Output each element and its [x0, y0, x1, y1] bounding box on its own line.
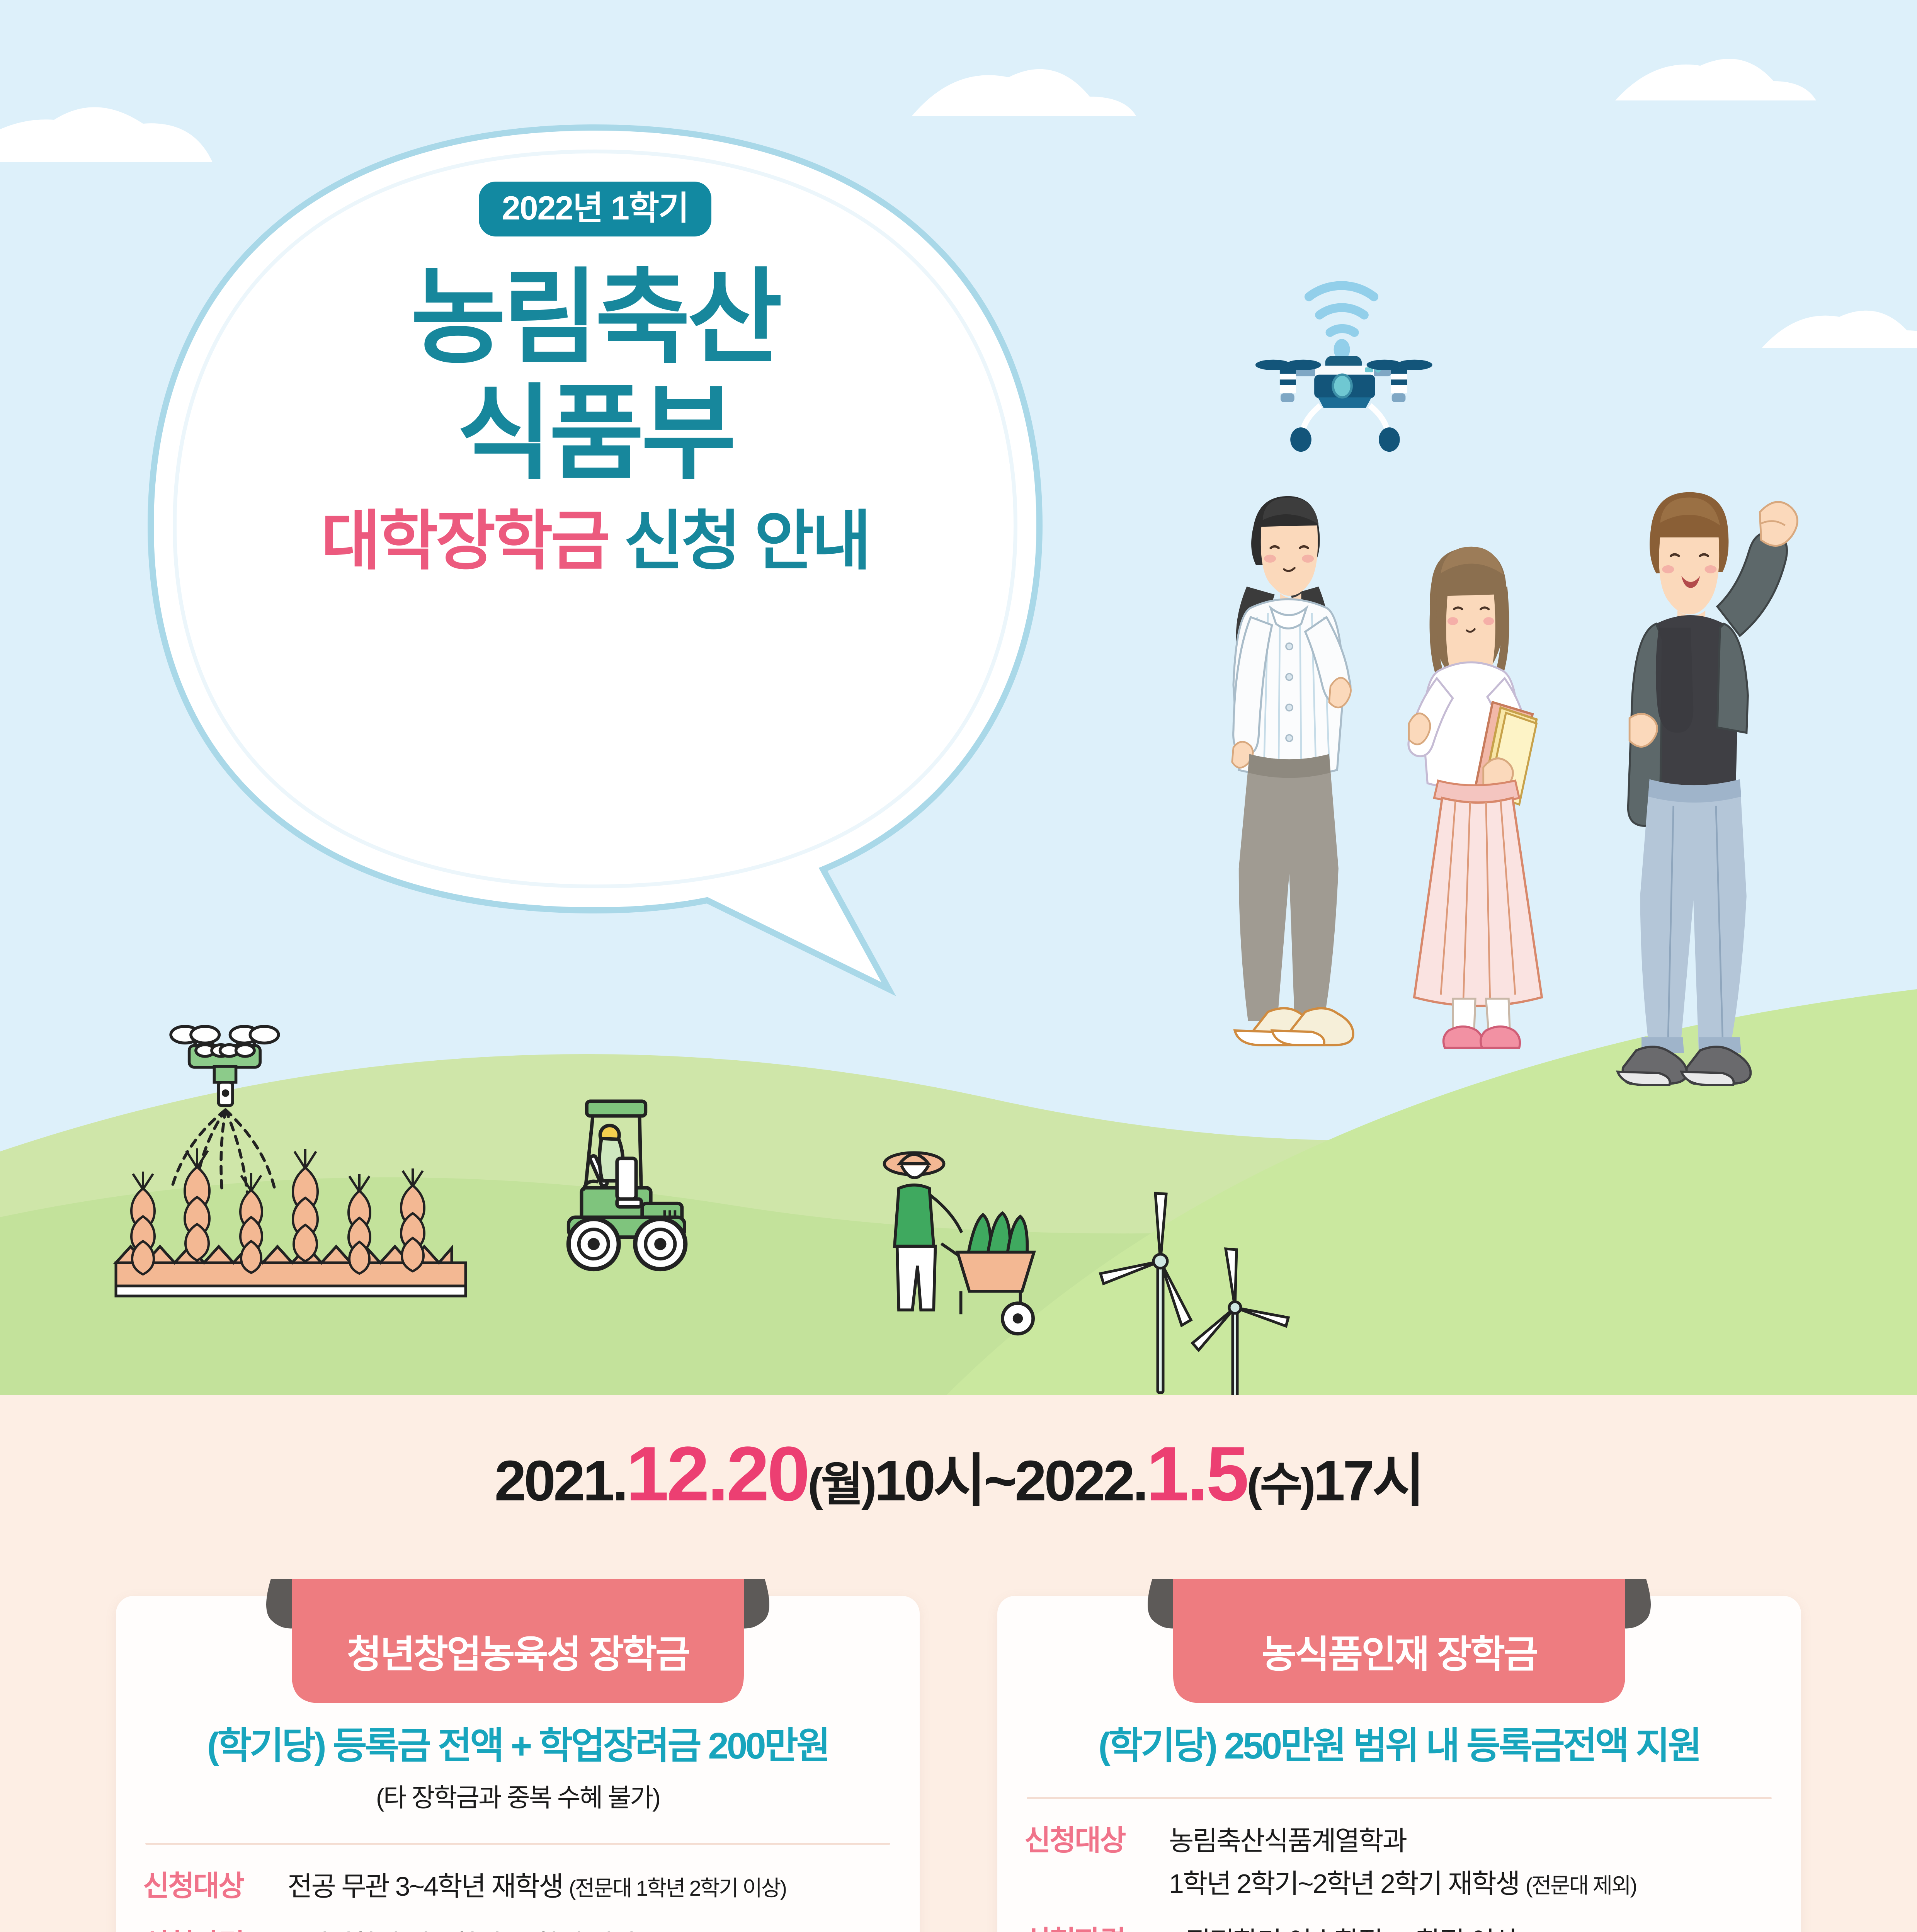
ribbon-banner-left: 청년창업농육성 장학금	[234, 1579, 802, 1733]
row-body: 직전학기 이수학점 12학점 이상 성적 80점 이상인 자	[1169, 1923, 1774, 1932]
bullet-item: 직전학기 이수학점 12학점 이상	[1169, 1923, 1774, 1932]
period-end-year: 2022.	[1015, 1449, 1146, 1513]
row-body: 농림축산식품계열학과 1학년 2학기~2학년 2학기 재학생 (전문대 제외)	[1169, 1822, 1774, 1902]
period-start-year: 2021.	[495, 1449, 626, 1513]
period-end-date: 1.5	[1146, 1431, 1247, 1517]
row-label: 신청자격	[1024, 1923, 1152, 1932]
card-divider-left	[145, 1843, 890, 1845]
page-title: 농림축산 식품부	[216, 260, 974, 492]
row-text-small: (전문대 1학년 2학기 이상)	[569, 1876, 786, 1900]
bullet-item: 직전학기 이수학점 12학점 이상	[287, 1926, 893, 1932]
application-period-banner: 2021.12.20(월)10시~2022.1.5(수)17시	[0, 1430, 1917, 1519]
detail-row: 신청대상 농림축산식품계열학과 1학년 2학기~2학년 2학기 재학생 (전문대…	[1024, 1822, 1774, 1902]
row-label: 신청자격	[143, 1926, 270, 1932]
row-body: 직전학기 이수학점 12학점 이상 성적 70점 이상인 만 40세 미만인 자	[287, 1926, 893, 1932]
detail-row: 신청대상 전공 무관 3~4학년 재학생 (전문대 1학년 2학기 이상)	[143, 1868, 893, 1905]
detail-rows-right: 신청대상 농림축산식품계열학과 1학년 2학기~2학년 2학기 재학생 (전문대…	[1024, 1822, 1774, 1932]
row-text-small: (전문대 제외)	[1526, 1873, 1636, 1898]
ribbon-label-left: 청년창업농육성 장학금	[234, 1624, 802, 1679]
scholarship-cards: 청년창업농육성 장학금 (학기당) 등록금 전액 + 학업장려금 200만원 (…	[116, 1596, 1801, 1932]
period-start-date: 12.20	[626, 1431, 808, 1517]
period-end-day: (수)	[1247, 1459, 1313, 1510]
period-start-day: (월)	[808, 1459, 874, 1510]
semester-badge: 2022년 1학기	[479, 182, 711, 236]
scholarship-card-youth-startup: 청년창업농육성 장학금 (학기당) 등록금 전액 + 학업장려금 200만원 (…	[116, 1596, 920, 1932]
bullet-list: 직전학기 이수학점 12학점 이상 성적 70점 이상인 만 40세 미만인 자	[287, 1926, 893, 1932]
hero-illustration-scene: 2022년 1학기 농림축산 식품부 대학장학금 신청 안내	[0, 0, 1917, 1395]
header-bubble-content: 2022년 1학기 농림축산 식품부 대학장학금 신청 안내	[216, 182, 974, 573]
title-line-1: 농림축산	[216, 260, 974, 376]
title-line-2: 식품부	[216, 376, 974, 492]
period-start-time: 10시	[874, 1449, 984, 1513]
row-text: 전공 무관 3~4학년 재학생	[287, 1871, 563, 1901]
row-label: 신청대상	[1024, 1822, 1152, 1859]
ribbon-banner-right: 농식품인재 장학금	[1115, 1579, 1683, 1733]
bullet-list: 직전학기 이수학점 12학점 이상 성적 80점 이상인 자	[1169, 1923, 1774, 1932]
detail-row: 신청자격 직전학기 이수학점 12학점 이상 성적 80점 이상인 자	[1024, 1923, 1774, 1932]
subtitle-rest: 신청 안내	[624, 505, 869, 577]
period-range: ~	[984, 1449, 1015, 1513]
page-subtitle: 대학장학금 신청 안내	[216, 509, 974, 573]
scholarship-card-agrifood-talent: 농식품인재 장학금 (학기당) 250만원 범위 내 등록금전액 지원 신청대상…	[997, 1596, 1801, 1932]
ribbon-label-right: 농식품인재 장학금	[1115, 1624, 1683, 1679]
row-text: 농림축산식품계열학과	[1169, 1822, 1774, 1860]
detail-row: 신청자격 직전학기 이수학점 12학점 이상 성적 70점 이상인 만 40세 …	[143, 1926, 893, 1932]
row-text: 1학년 2학기~2학년 2학기 재학생 (전문대 제외)	[1169, 1865, 1774, 1903]
row-label: 신청대상	[143, 1868, 270, 1905]
subtitle-highlight: 대학장학금	[321, 505, 608, 577]
amount-note-left: (타 장학금과 중복 수혜 불가)	[143, 1777, 893, 1814]
detail-rows-left: 신청대상 전공 무관 3~4학년 재학생 (전문대 1학년 2학기 이상) 신청…	[143, 1868, 893, 1932]
row-body: 전공 무관 3~4학년 재학생 (전문대 1학년 2학기 이상)	[287, 1868, 893, 1905]
card-divider-right	[1027, 1797, 1772, 1799]
poster-root: 2022년 1학기 농림축산 식품부 대학장학금 신청 안내 2021.12.2…	[0, 0, 1917, 1932]
period-end-time: 17시	[1313, 1449, 1423, 1513]
